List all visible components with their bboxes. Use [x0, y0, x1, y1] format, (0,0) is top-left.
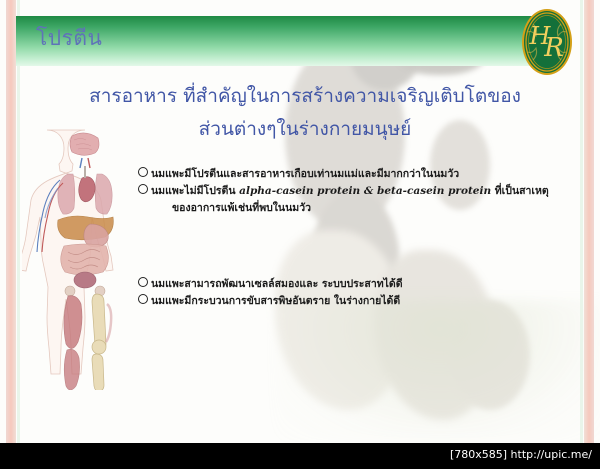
status-bar-text: [780x585] http://upic.me/ [450, 448, 592, 461]
bullet-group-bottom: นมแพะสามารถพัฒนาเซลล์สมองและ ระบบประสาทไ… [138, 276, 578, 310]
bullet-continuation: ของอาการแพ้เช่นที่พบในนมวัว [138, 200, 578, 217]
slide-title: โปรตีน [36, 22, 102, 55]
left-inner-stripe [17, 0, 20, 443]
bullet-text-tail: ที่เป็นสาเหตุ [491, 185, 549, 197]
source-url-label: http://upic.me/ [511, 448, 592, 461]
right-accent-stripe [584, 0, 594, 443]
svg-text:R: R [543, 33, 564, 63]
right-inner-stripe [580, 0, 583, 443]
bullet-text: นมแพะมีโปรตีนและสารอาหารเกือบเท่านมแม่แล… [151, 168, 459, 180]
left-accent-stripe [6, 0, 16, 443]
bullet-item: นมแพะมีโปรตีนและสารอาหารเกือบเท่านมแม่แล… [138, 166, 578, 183]
status-bar: [780x585] http://upic.me/ [0, 443, 600, 469]
bullet-item: นมแพะสามารถพัฒนาเซลล์สมองและ ระบบประสาทไ… [138, 276, 578, 293]
bullet-text: นมแพะมีกระบวนการขับสารพิษอันตราย ในร่างก… [151, 295, 400, 307]
bullet-latin-term: alpha-casein protein & beta-casein prote… [239, 185, 491, 197]
bullet-item: นมแพะมีกระบวนการขับสารพิษอันตราย ในร่างก… [138, 293, 578, 310]
bullet-text: นมแพะสามารถพัฒนาเซลล์สมองและ ระบบประสาทไ… [151, 278, 403, 290]
human-anatomy-illustration [22, 128, 148, 390]
screenshot-root: โปรตีน H R สารอาหาร ที่สำคัญในการสร้างคว… [0, 0, 600, 469]
bullet-item: นมแพะไม่มีโปรตีน alpha-casein protein & … [138, 183, 578, 200]
image-dimensions-label: [780x585] [450, 448, 507, 461]
heading-line-1: สารอาหาร ที่สำคัญในการสร้างความเจริญเติบ… [60, 84, 550, 109]
slide-canvas: โปรตีน H R สารอาหาร ที่สำคัญในการสร้างคว… [0, 0, 600, 443]
bullet-text: นมแพะไม่มีโปรตีน [151, 185, 239, 197]
hr-monogram-logo: H R [519, 6, 575, 78]
bullet-group-top: นมแพะมีโปรตีนและสารอาหารเกือบเท่านมแม่แล… [138, 166, 578, 217]
